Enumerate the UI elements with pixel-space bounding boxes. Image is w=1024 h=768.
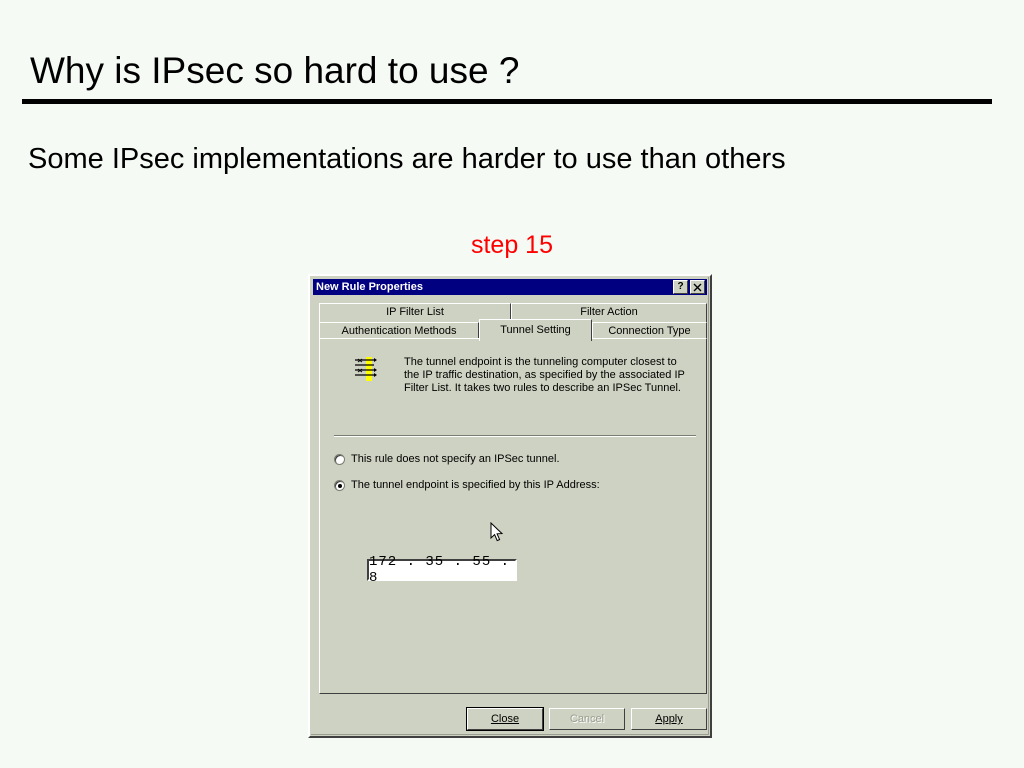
close-icon[interactable] xyxy=(690,280,705,294)
radio-tunnel-endpoint-icon[interactable] xyxy=(334,480,345,491)
cancel-button: Cancel xyxy=(549,708,625,730)
help-icon[interactable]: ? xyxy=(673,280,688,294)
panel-separator xyxy=(334,435,696,437)
apply-button-label: Apply xyxy=(655,713,683,725)
mouse-cursor xyxy=(490,522,504,543)
tunnel-description: The tunnel endpoint is the tunneling com… xyxy=(404,356,694,395)
tab-tunnel-setting[interactable]: Tunnel Setting xyxy=(479,319,592,341)
slide-subtitle: Some IPsec implementations are harder to… xyxy=(28,143,786,176)
page-title: Why is IPsec so hard to use ? xyxy=(30,50,519,92)
cancel-button-label: Cancel xyxy=(570,713,604,725)
radio-no-tunnel-icon[interactable] xyxy=(334,454,345,465)
title-divider xyxy=(22,99,992,104)
option-tunnel-endpoint[interactable]: The tunnel endpoint is specified by this… xyxy=(334,479,600,491)
ip-address-input[interactable]: 172 . 35 . 55 . 8 xyxy=(367,559,517,581)
dialog-button-row: Close Cancel Apply xyxy=(310,708,710,732)
new-rule-properties-dialog: New Rule Properties ? IP Filter List Fil… xyxy=(308,274,712,738)
close-button[interactable]: Close xyxy=(467,708,543,730)
tunnel-endpoint-icon xyxy=(353,356,377,382)
dialog-title: New Rule Properties xyxy=(316,279,671,295)
option-no-tunnel[interactable]: This rule does not specify an IPSec tunn… xyxy=(334,453,560,465)
dialog-titlebar: New Rule Properties ? xyxy=(313,279,707,295)
option-no-tunnel-label: This rule does not specify an IPSec tunn… xyxy=(351,453,560,465)
option-tunnel-endpoint-label: The tunnel endpoint is specified by this… xyxy=(351,479,600,491)
tab-strip: IP Filter List Filter Action Authenticat… xyxy=(319,303,707,341)
close-button-label: Close xyxy=(491,713,519,725)
step-annotation: step 15 xyxy=(0,231,1024,260)
tunnel-setting-panel: The tunnel endpoint is the tunneling com… xyxy=(319,338,707,694)
apply-button[interactable]: Apply xyxy=(631,708,707,730)
